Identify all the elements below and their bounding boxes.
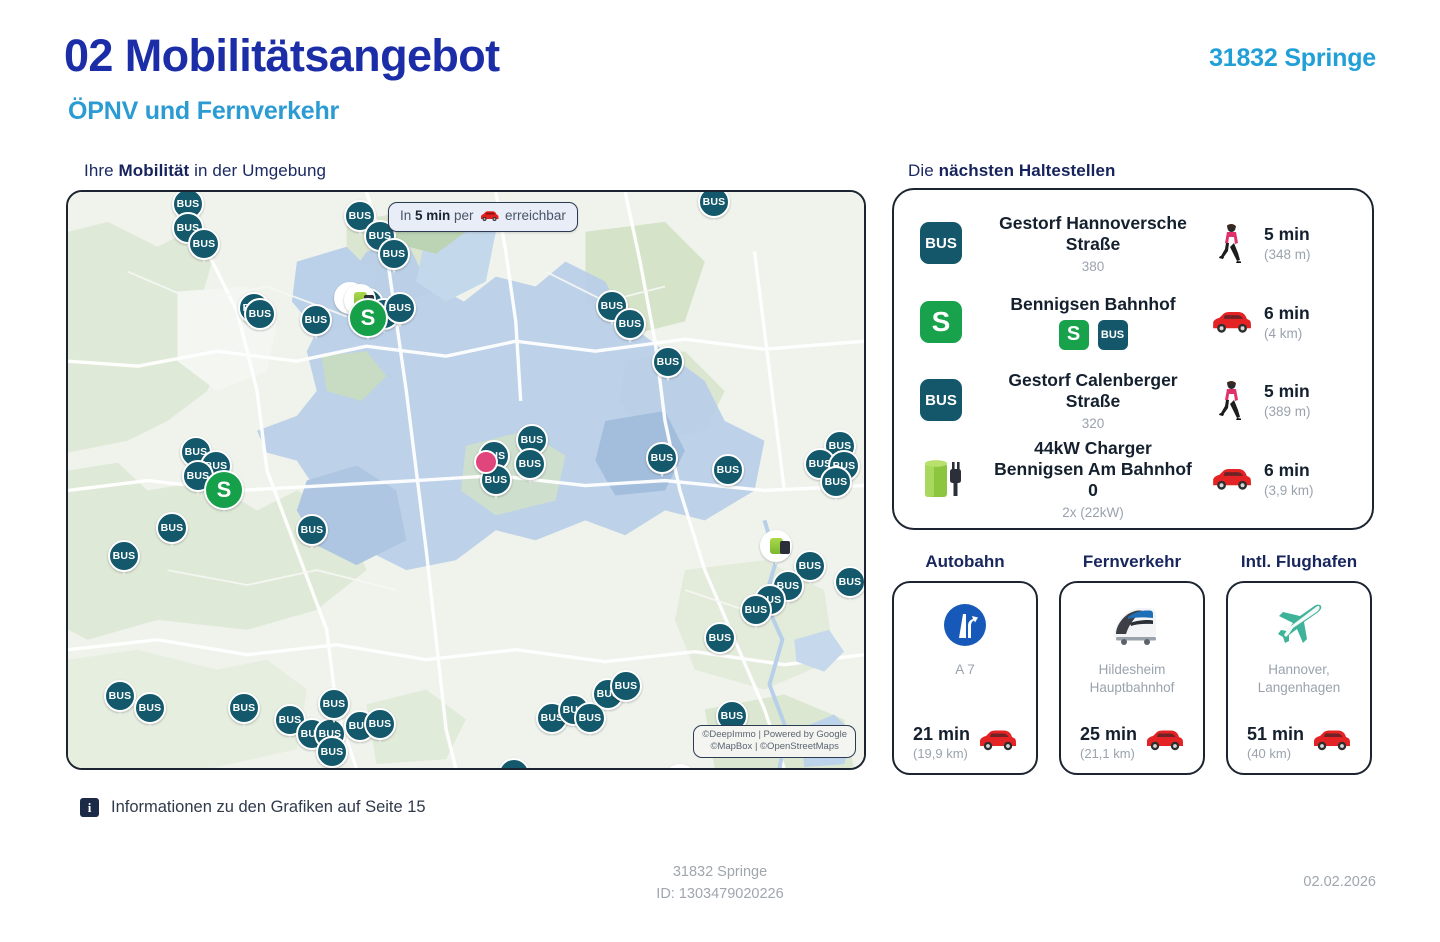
map-pin-sbahn[interactable]: S bbox=[348, 298, 388, 338]
sbahn-square-icon: S bbox=[920, 301, 962, 343]
card-place: Hildesheim Hauptbahnhof bbox=[1090, 661, 1175, 724]
card-time-block: 21 min (19,9 km) bbox=[913, 724, 970, 761]
stop-time-block: 5 min (348 m) bbox=[1264, 224, 1350, 262]
map-label-bold: Mobilität bbox=[119, 161, 190, 180]
map-pin-bus[interactable]: BUS bbox=[698, 190, 730, 218]
map-pin-bus[interactable]: BUS bbox=[296, 514, 328, 546]
stop-distance: (3,9 km) bbox=[1264, 483, 1350, 498]
info-note: i Informationen zu den Grafiken auf Seit… bbox=[80, 798, 426, 817]
map-pin-bus[interactable]: BUS bbox=[646, 442, 678, 474]
page-subtitle: ÖPNV und Fernverkehr bbox=[68, 97, 339, 126]
card-place-line-1: Hannover, bbox=[1258, 661, 1341, 679]
card-time: 51 min bbox=[1247, 724, 1304, 745]
stop-distance: (4 km) bbox=[1264, 326, 1350, 341]
map-label-prefix: Ihre bbox=[84, 161, 119, 180]
stop-name: Gestorf Hannoversche Straße bbox=[990, 213, 1196, 256]
map-pin-bus[interactable]: BUS bbox=[498, 758, 530, 770]
stop-time-block: 6 min (4 km) bbox=[1264, 303, 1350, 341]
car-icon bbox=[1311, 728, 1351, 757]
stop-time: 5 min bbox=[1264, 224, 1350, 245]
car-icon bbox=[1208, 466, 1254, 492]
stop-name: 44kW Charger Bennigsen Am Bahnhof 0 bbox=[990, 438, 1196, 502]
map-attribution: ©DeepImmo | Powered by Google ©MapBox | … bbox=[693, 725, 856, 758]
card-time-block: 51 min (40 km) bbox=[1247, 724, 1304, 761]
map-pin-bus[interactable]: BUS bbox=[108, 540, 140, 572]
sbahn-badge-icon: S bbox=[1059, 320, 1089, 350]
bus-badge-icon: BUS bbox=[1098, 320, 1128, 350]
map-pin-bus[interactable]: BUS bbox=[300, 304, 332, 336]
stop-distance: (348 m) bbox=[1264, 247, 1350, 262]
card-time: 21 min bbox=[913, 724, 970, 745]
tooltip-mid: per bbox=[450, 208, 477, 223]
stop-time: 6 min bbox=[1264, 460, 1350, 481]
stops-label-bold: nächsten Haltestellen bbox=[939, 161, 1116, 180]
car-icon bbox=[1208, 309, 1254, 335]
stop-travel: 6 min (4 km) bbox=[1200, 303, 1350, 341]
stop-lines: 320 bbox=[990, 416, 1196, 431]
card-time: 25 min bbox=[1080, 724, 1137, 745]
stop-travel: 5 min (348 m) bbox=[1200, 223, 1350, 263]
map-pin-bus[interactable]: BUS bbox=[244, 298, 276, 330]
location-title: 31832 Springe bbox=[1209, 44, 1376, 73]
card-distance: (40 km) bbox=[1247, 746, 1304, 761]
card-distance: (19,9 km) bbox=[913, 746, 970, 761]
map-pin-bus[interactable]: BUS bbox=[134, 692, 166, 724]
card-footer: 25 min (21,1 km) bbox=[1069, 724, 1195, 761]
tooltip-suffix: erreichbar bbox=[501, 208, 566, 223]
map-pin-bus[interactable]: BUS bbox=[712, 454, 744, 486]
stop-lines: 380 bbox=[990, 259, 1196, 274]
mobility-map[interactable]: BUS BUS BUS BUS BUS BUS BUS BUS BUS BUS … bbox=[66, 190, 866, 770]
stop-travel: 5 min (389 m) bbox=[1200, 380, 1350, 420]
stop-travel: 6 min (3,9 km) bbox=[1200, 460, 1350, 498]
stop-name-line-1: 44kW Charger bbox=[990, 438, 1196, 459]
card-place: Hannover, Langenhagen bbox=[1258, 661, 1341, 724]
stop-time: 5 min bbox=[1264, 381, 1350, 402]
stop-name: Bennigsen Bahnhof bbox=[990, 294, 1196, 315]
stop-name: Gestorf Calenberger Straße bbox=[990, 370, 1196, 413]
stop-icon-wrap: S bbox=[920, 301, 986, 343]
stop-info: Bennigsen Bahnhof S BUS bbox=[986, 294, 1200, 350]
stop-row[interactable]: BUS Gestorf Hannoversche Straße 380 bbox=[920, 204, 1350, 282]
footer-id: ID: 1303479020226 bbox=[0, 884, 1440, 906]
stop-name-line-2: Bennigsen Am Bahnhof 0 bbox=[990, 459, 1196, 502]
map-pin-bus[interactable]: BUS bbox=[820, 466, 852, 498]
stops-section-label: Die nächsten Haltestellen bbox=[908, 161, 1116, 181]
stop-icon-wrap: BUS bbox=[920, 379, 986, 421]
card-title: Autobahn bbox=[892, 552, 1038, 572]
autobahn-sign-icon bbox=[942, 599, 988, 651]
card-flughafen: Intl. Flughafen Hannover, Langenhagen 51… bbox=[1226, 552, 1372, 775]
bus-square-icon: BUS bbox=[920, 222, 962, 264]
stop-time: 6 min bbox=[1264, 303, 1350, 324]
airplane-icon bbox=[1273, 599, 1325, 651]
footer-date: 02.02.2026 bbox=[1303, 874, 1376, 890]
map-pin-bus[interactable]: BUS bbox=[610, 670, 642, 702]
card-distance: (21,1 km) bbox=[1080, 746, 1137, 761]
card-title: Fernverkehr bbox=[1059, 552, 1205, 572]
stop-info: 44kW Charger Bennigsen Am Bahnhof 0 2x (… bbox=[986, 438, 1200, 520]
map-section-label: Ihre Mobilität in der Umgebung bbox=[84, 161, 326, 181]
card-body[interactable]: A 7 21 min (19,9 km) bbox=[892, 581, 1038, 775]
card-fernverkehr: Fernverkehr Hildesheim Hauptbahnh bbox=[1059, 552, 1205, 775]
card-place-line-2: Hauptbahnhof bbox=[1090, 679, 1175, 697]
map-pin-bus[interactable]: BUS bbox=[740, 594, 772, 626]
map-pin-highlight[interactable] bbox=[474, 450, 498, 474]
card-time-block: 25 min (21,1 km) bbox=[1080, 724, 1137, 761]
car-icon bbox=[1144, 728, 1184, 757]
stop-time-block: 5 min (389 m) bbox=[1264, 381, 1350, 419]
map-pin-bus[interactable]: BUS bbox=[834, 566, 866, 598]
tooltip-time: 5 min bbox=[415, 208, 450, 223]
page-root: 02 Mobilitätsangebot ÖPNV und Fernverkeh… bbox=[0, 0, 1440, 942]
card-place-line-2: Langenhagen bbox=[1258, 679, 1341, 697]
map-pin-bus[interactable]: BUS bbox=[104, 680, 136, 712]
map-label-suffix: in der Umgebung bbox=[189, 161, 326, 180]
card-body[interactable]: Hannover, Langenhagen 51 min (40 km) bbox=[1226, 581, 1372, 775]
stop-distance: (389 m) bbox=[1264, 404, 1350, 419]
info-icon: i bbox=[80, 798, 99, 817]
nearest-stops-card: BUS Gestorf Hannoversche Straße 380 bbox=[892, 188, 1374, 530]
map-pin-bus[interactable]: BUS bbox=[188, 228, 220, 260]
stop-row[interactable]: S Bennigsen Bahnhof S BUS 6 min (4 km) bbox=[920, 283, 1350, 361]
card-footer: 21 min (19,9 km) bbox=[902, 724, 1028, 761]
tooltip-prefix: In bbox=[400, 208, 415, 223]
map-pin-bus[interactable]: BUS bbox=[318, 688, 350, 720]
walking-icon bbox=[1208, 380, 1254, 420]
map-pin-bus[interactable]: BUS bbox=[514, 448, 546, 480]
card-place-line-1: Hildesheim bbox=[1090, 661, 1175, 679]
info-note-text: Informationen zu den Grafiken auf Seite … bbox=[111, 798, 426, 817]
stop-mode-badges: S BUS bbox=[990, 320, 1196, 350]
card-title: Intl. Flughafen bbox=[1226, 552, 1372, 572]
map-pin-bus[interactable]: BUS bbox=[228, 692, 260, 724]
stops-label-prefix: Die bbox=[908, 161, 939, 180]
walking-icon bbox=[1208, 223, 1254, 263]
map-pin-bus[interactable]: BUS bbox=[704, 622, 736, 654]
footer-center: 31832 Springe ID: 1303479020226 bbox=[0, 862, 1440, 906]
map-pin-sbahn[interactable]: S bbox=[204, 470, 244, 510]
map-tooltip: In 5 min per erreichbar bbox=[388, 202, 578, 232]
map-pin-charger[interactable] bbox=[760, 530, 792, 562]
stop-info: Gestorf Hannoversche Straße 380 bbox=[986, 213, 1200, 274]
stop-icon-wrap bbox=[920, 455, 986, 503]
stop-row[interactable]: 44kW Charger Bennigsen Am Bahnhof 0 2x (… bbox=[920, 440, 1350, 518]
bus-square-icon: BUS bbox=[920, 379, 962, 421]
charger-icon bbox=[920, 455, 966, 503]
card-place: A 7 bbox=[955, 661, 975, 724]
map-pin-bus[interactable]: BUS bbox=[156, 512, 188, 544]
map-pin-bus[interactable]: BUS bbox=[652, 346, 684, 378]
card-autobahn: Autobahn A 7 21 min (19,9 km) bbox=[892, 552, 1038, 775]
attribution-line-1: ©DeepImmo | Powered by Google bbox=[702, 729, 847, 741]
map-pin-bus[interactable]: BUS bbox=[364, 708, 396, 740]
stop-time-block: 6 min (3,9 km) bbox=[1264, 460, 1350, 498]
footer-location: 31832 Springe bbox=[0, 862, 1440, 884]
car-icon bbox=[479, 210, 499, 225]
car-icon bbox=[977, 728, 1017, 757]
charger-spec: 2x (22kW) bbox=[990, 505, 1196, 520]
attribution-line-2: ©MapBox | ©OpenStreetMaps bbox=[702, 741, 847, 753]
stop-row[interactable]: BUS Gestorf Calenberger Straße 320 bbox=[920, 361, 1350, 439]
page-title: 02 Mobilitätsangebot bbox=[64, 32, 500, 81]
map-pin-charger[interactable] bbox=[664, 764, 696, 770]
map-pin-bus[interactable]: BUS bbox=[614, 308, 646, 340]
card-footer: 51 min (40 km) bbox=[1236, 724, 1362, 761]
map-pin-bus[interactable]: BUS bbox=[378, 238, 410, 270]
transport-summary-cards: Autobahn A 7 21 min (19,9 km) bbox=[892, 552, 1374, 775]
stop-icon-wrap: BUS bbox=[920, 222, 986, 264]
map-pin-bus[interactable]: BUS bbox=[384, 292, 416, 324]
stop-info: Gestorf Calenberger Straße 320 bbox=[986, 370, 1200, 431]
card-body[interactable]: Hildesheim Hauptbahnhof 25 min (21,1 km) bbox=[1059, 581, 1205, 775]
train-icon bbox=[1102, 599, 1162, 651]
